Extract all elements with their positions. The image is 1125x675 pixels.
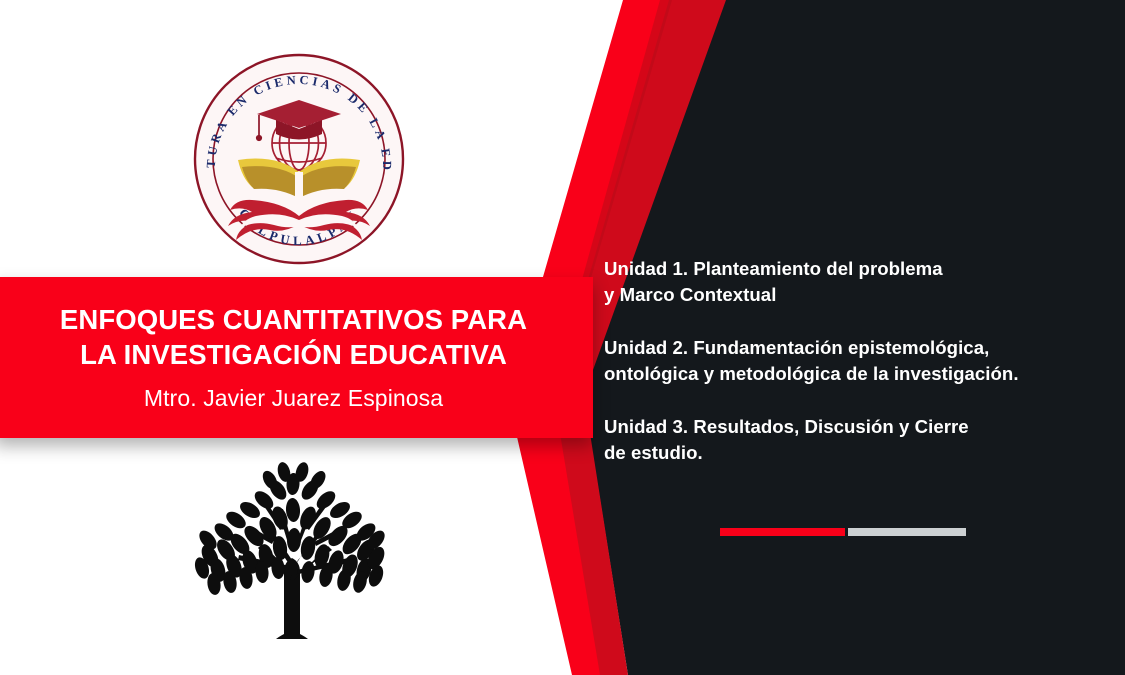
unit-item-2: Unidad 2. Fundamentación epistemológica,…	[604, 335, 1104, 388]
tree-illustration	[180, 452, 405, 642]
institution-logo: LICENCIATURA EN CIENCIAS DE LA EDUCACIÓN…	[190, 50, 408, 268]
presenter-name: Mtro. Javier Juarez Espinosa	[144, 385, 443, 412]
unit-list: Unidad 1. Planteamiento del problema y M…	[604, 256, 1104, 466]
unit-item-3: Unidad 3. Resultados, Discusión y Cierre…	[604, 414, 1104, 467]
progress-indicator	[720, 528, 966, 536]
progress-bar-active	[720, 528, 845, 536]
presentation-title: ENFOQUES CUANTITATIVOS PARA LA INVESTIGA…	[46, 303, 541, 372]
tree-silhouette-icon	[192, 461, 388, 639]
unit-item-1: Unidad 1. Planteamiento del problema y M…	[604, 256, 1104, 309]
slide-canvas: LICENCIATURA EN CIENCIAS DE LA EDUCACIÓN…	[0, 0, 1125, 675]
progress-bar-inactive	[848, 528, 966, 536]
title-banner: ENFOQUES CUANTITATIVOS PARA LA INVESTIGA…	[0, 277, 593, 438]
